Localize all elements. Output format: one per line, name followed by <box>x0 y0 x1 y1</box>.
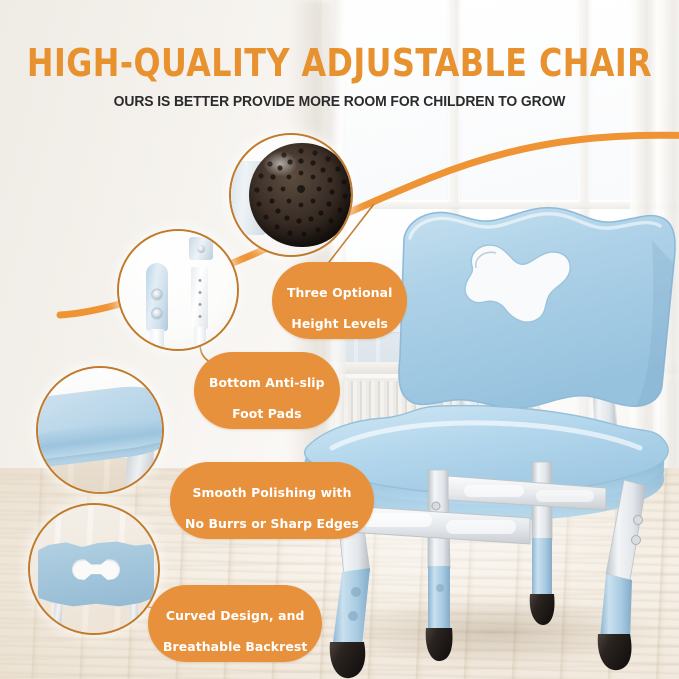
callout-badge-height-levels[interactable]: Three Optional Height Levels <box>272 262 407 339</box>
front-left-foot <box>330 642 365 678</box>
inner-tube <box>194 327 206 345</box>
inset-background <box>119 231 237 349</box>
rear-left-leg-lower <box>428 566 450 632</box>
rear-right-leg-lower <box>532 538 552 598</box>
inset-adjustable-leg-mechanism <box>117 229 239 351</box>
push-button-pin <box>153 290 162 299</box>
height-hole <box>198 315 201 318</box>
leg-cap-detail <box>189 237 213 260</box>
callout-line-1: Bottom Anti-slip <box>209 375 325 390</box>
callout-badge-smooth-polishing[interactable]: Smooth Polishing with No Burrs or Sharp … <box>170 462 374 539</box>
backrest-post <box>53 601 62 627</box>
front-right-foot <box>598 634 632 670</box>
inset-curved-backrest <box>28 503 160 635</box>
inset-polished-seat-edge <box>36 366 164 494</box>
callout-badge-anti-slip-pads[interactable]: Bottom Anti-slip Foot Pads <box>194 352 340 429</box>
height-hole <box>198 303 201 306</box>
callout-line-2: Height Levels <box>291 316 388 331</box>
push-button-pin <box>153 309 162 318</box>
push-button-pin <box>197 245 205 253</box>
callout-line-2: Foot Pads <box>232 406 301 421</box>
callout-line-1: Smooth Polishing with <box>193 485 352 500</box>
callout-line-2: No Burrs or Sharp Edges <box>185 516 359 531</box>
callout-badge-curved-backrest[interactable]: Curved Design, and Breathable Backrest <box>148 585 322 662</box>
front-right-leg-lower <box>600 574 632 642</box>
inner-tube <box>150 329 164 347</box>
infographic-canvas: HIGH-QUALITY ADJUSTABLE CHAIR OURS IS BE… <box>0 0 679 679</box>
product-chair <box>300 180 679 679</box>
height-hole <box>198 291 201 294</box>
blue-leg-sleeve <box>146 263 168 331</box>
backrest-post <box>129 601 138 627</box>
page-title: HIGH-QUALITY ADJUSTABLE CHAIR <box>24 44 655 82</box>
anti-slip-dimple-pattern <box>249 143 351 247</box>
page-subtitle: OURS IS BETTER PROVIDE MORE ROOM FOR CHI… <box>14 94 666 110</box>
callout-line-1: Curved Design, and <box>166 608 305 623</box>
callout-line-1: Three Optional <box>287 285 392 300</box>
height-hole <box>198 279 201 282</box>
callout-line-2: Breathable Backrest <box>163 639 307 654</box>
chair-backrest <box>399 208 675 408</box>
inset-anti-slip-foot-pad <box>229 133 353 257</box>
white-inner-tube <box>191 267 208 329</box>
